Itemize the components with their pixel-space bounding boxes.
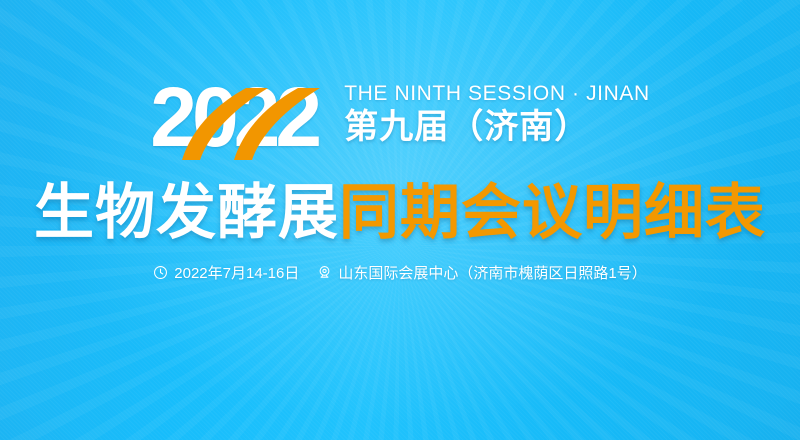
event-date-text: 2022年7月14-16日 xyxy=(174,262,299,283)
clock-icon xyxy=(153,265,168,280)
headline-orange-part: 同期会议明细表 xyxy=(339,179,766,246)
year-text: 2022 xyxy=(150,75,317,159)
event-venue: 山东国际会展中心（济南市槐荫区日照路1号） xyxy=(317,262,646,283)
logo-row: 2022 THE NINTH SESSION · JINAN 第九届（济南） xyxy=(0,82,800,160)
page-title: 生物发酵展同期会议明细表 xyxy=(0,183,800,243)
event-date: 2022年7月14-16日 xyxy=(153,262,299,283)
event-info-row: 2022年7月14-16日 山东国际会展中心（济南市槐荫区日照路1号） xyxy=(0,262,800,283)
event-venue-text: 山东国际会展中心（济南市槐荫区日照路1号） xyxy=(338,262,646,283)
event-banner: 2022 THE NINTH SESSION · JINAN 第九届（济南） 生… xyxy=(0,0,800,440)
chinese-subtitle: 第九届（济南） xyxy=(344,110,650,146)
location-pin-icon xyxy=(317,265,332,280)
headline-white-part: 生物发酵展 xyxy=(34,179,339,246)
banner-content: 2022 THE NINTH SESSION · JINAN 第九届（济南） 生… xyxy=(0,0,800,440)
year-logo: 2022 xyxy=(150,82,330,160)
english-subtitle: THE NINTH SESSION · JINAN xyxy=(344,83,650,105)
logo-subtitle-block: THE NINTH SESSION · JINAN 第九届（济南） xyxy=(344,82,650,146)
